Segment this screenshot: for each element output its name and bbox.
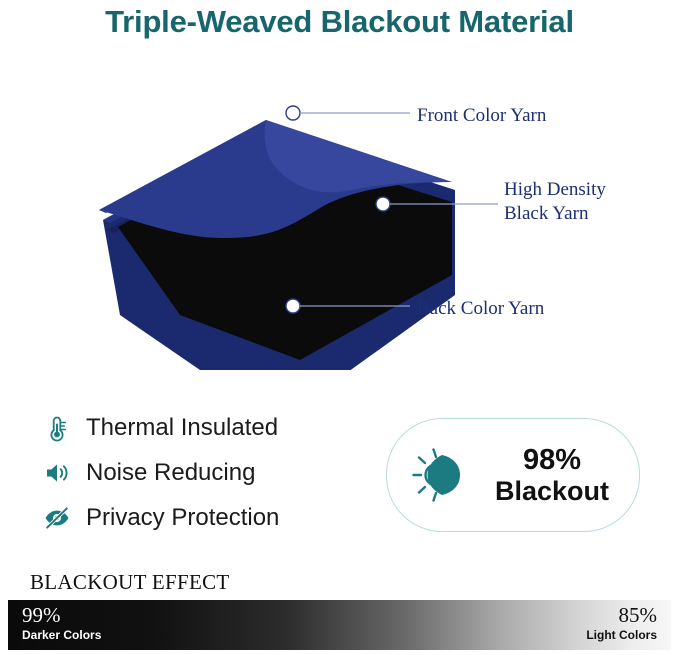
left-percent: 99% — [22, 603, 101, 627]
blackout-effect-heading: BLACKOUT EFFECT — [30, 570, 230, 595]
callout-label-line-1: High Density — [504, 178, 606, 202]
blackout-effect-left-stat: 99% Darker Colors — [22, 603, 101, 643]
sun-blocked-icon — [409, 444, 471, 506]
blackout-badge: 98% Blackout — [386, 418, 640, 532]
blackout-effect-right-stat: 85% Light Colors — [586, 603, 657, 643]
eye-slash-icon — [40, 501, 74, 535]
layer-front-color-yarn-fold — [265, 120, 453, 192]
feature-item-thermal-insulated: Thermal Insulated — [40, 405, 370, 450]
blackout-percent: 98% — [479, 444, 625, 476]
fabric-layers-diagram: Front Color Yarn High Density Black Yarn… — [0, 70, 679, 370]
right-caption: Light Colors — [586, 627, 657, 643]
feature-list: Thermal Insulated Noise Reducing Privacy… — [40, 405, 370, 540]
blackout-badge-text: 98% Blackout — [479, 444, 625, 506]
blackout-effect-gradient-bar — [8, 600, 671, 650]
callout-leader-front — [286, 106, 410, 120]
feature-label: Thermal Insulated — [86, 414, 278, 442]
callout-label-front-color-yarn: Front Color Yarn — [417, 105, 546, 127]
feature-item-privacy-protection: Privacy Protection — [40, 495, 370, 540]
thermometer-icon — [40, 411, 74, 445]
blackout-word: Blackout — [479, 476, 625, 506]
right-percent: 85% — [586, 603, 657, 627]
left-caption: Darker Colors — [22, 627, 101, 643]
callout-label-high-density-black-yarn: High Density Black Yarn — [504, 178, 606, 226]
feature-label: Privacy Protection — [86, 504, 279, 532]
page-title: Triple-Weaved Blackout Material — [0, 4, 679, 40]
feature-item-noise-reducing: Noise Reducing — [40, 450, 370, 495]
feature-label: Noise Reducing — [86, 459, 255, 487]
speaker-icon — [40, 456, 74, 490]
callout-label-back-color-yarn: Back Color Yarn — [417, 298, 544, 320]
callout-label-line-2: Black Yarn — [504, 202, 606, 226]
